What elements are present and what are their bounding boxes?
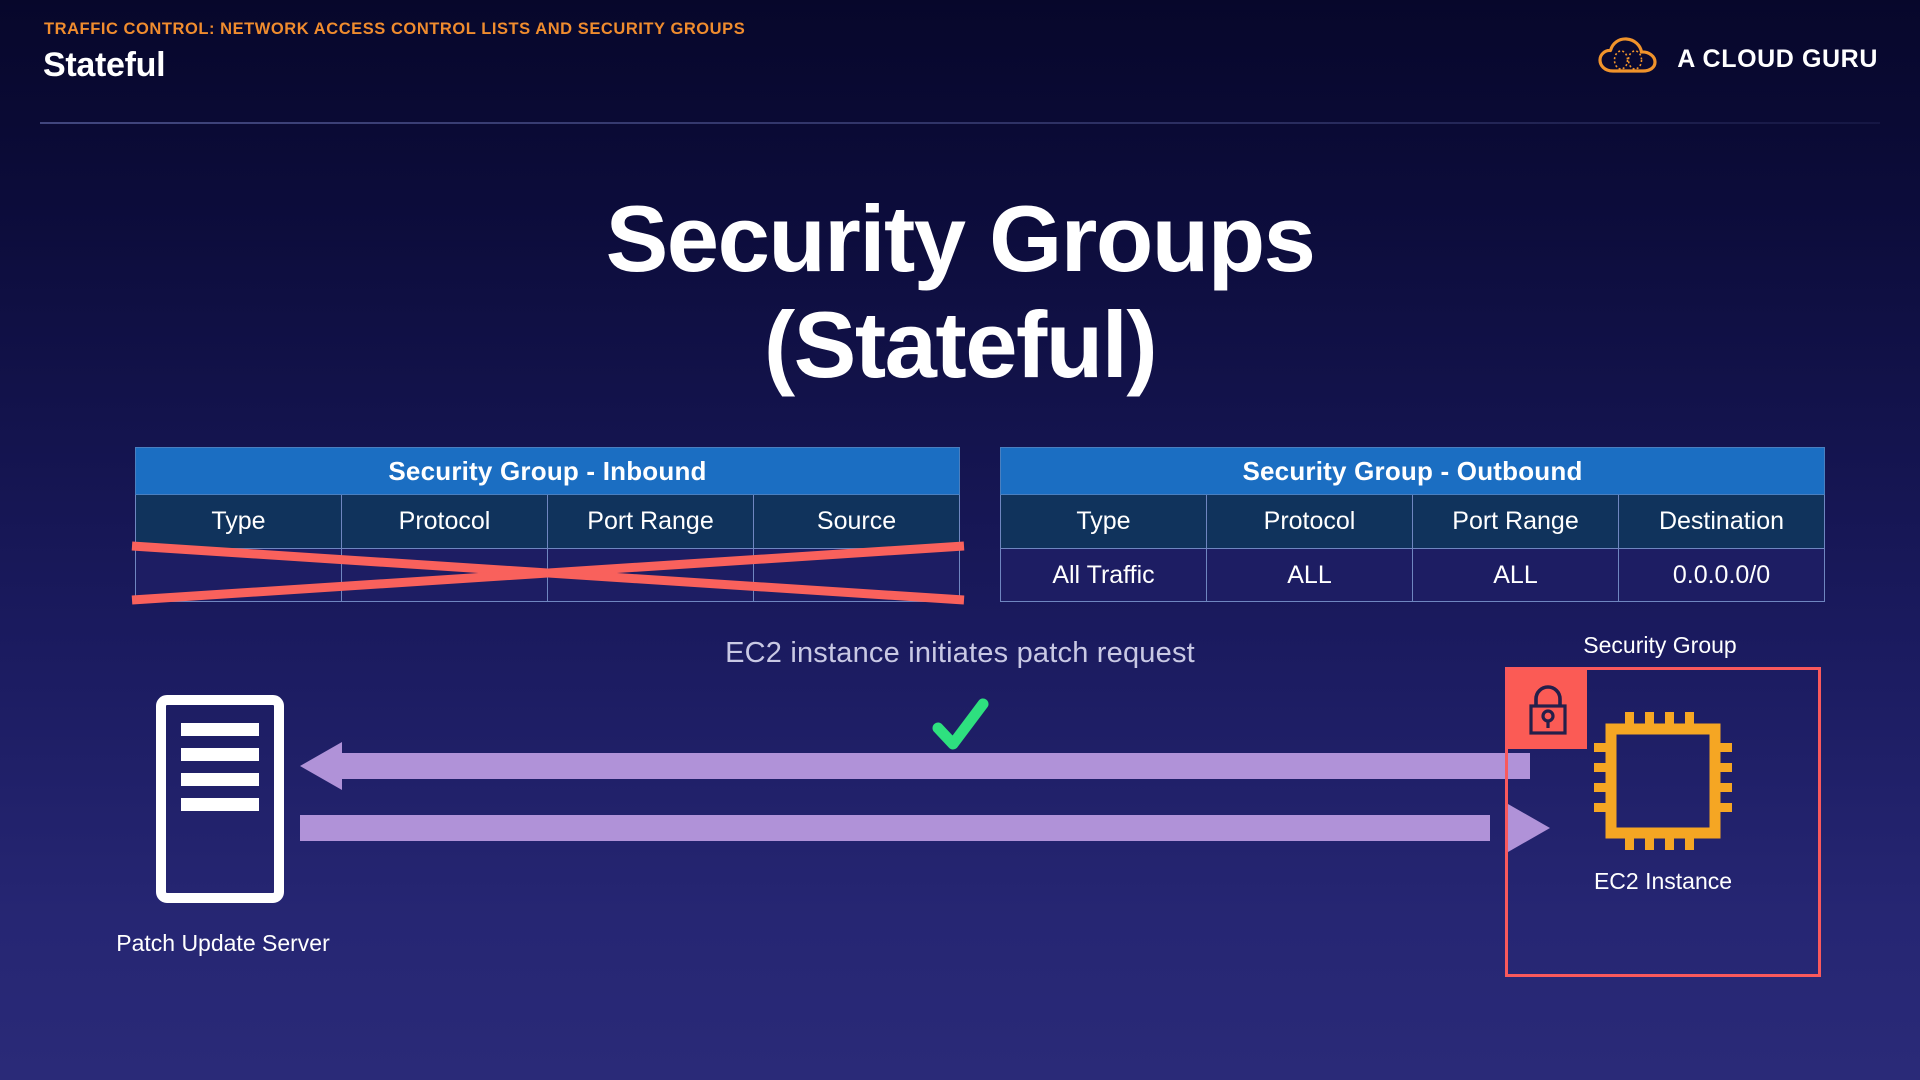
inbound-cell-port-range: [548, 549, 754, 602]
cloud-icon: [1597, 36, 1659, 83]
page-title-line-1: Security Groups: [606, 186, 1315, 291]
outbound-col-destination: Destination: [1619, 495, 1825, 549]
table-header-row: Type Protocol Port Range Source: [136, 495, 960, 549]
inbound-col-type: Type: [136, 495, 342, 549]
inbound-col-port-range: Port Range: [548, 495, 754, 549]
brand-logo: A CLOUD GURU: [1597, 36, 1878, 83]
security-group-box: EC2 Instance: [1505, 667, 1821, 977]
course-eyebrow-text: TRAFFIC CONTROL: NETWORK ACCESS CONTROL …: [44, 20, 745, 39]
outbound-table-title: Security Group - Outbound: [1001, 448, 1825, 495]
inbound-table-title: Security Group - Inbound: [136, 448, 960, 495]
outbound-cell-type: All Traffic: [1001, 549, 1207, 602]
outbound-cell-port-range: ALL: [1413, 549, 1619, 602]
inbound-col-source: Source: [754, 495, 960, 549]
server-icon: [156, 695, 284, 903]
security-group-inbound-table: Security Group - Inbound Type Protocol P…: [135, 447, 960, 602]
table-title-row: Security Group - Outbound: [1001, 448, 1825, 495]
security-group-box-label: Security Group: [1500, 632, 1820, 659]
traffic-arrows: [300, 740, 1550, 860]
table-header-row: Type Protocol Port Range Destination: [1001, 495, 1825, 549]
outbound-col-type: Type: [1001, 495, 1207, 549]
slide-header: TRAFFIC CONTROL: NETWORK ACCESS CONTROL …: [0, 0, 1920, 124]
inbound-cell-type: [136, 549, 342, 602]
header-divider: [40, 122, 1880, 124]
outbound-col-port-range: Port Range: [1413, 495, 1619, 549]
table-row: [136, 549, 960, 602]
table-row: All Traffic ALL ALL 0.0.0.0/0: [1001, 549, 1825, 602]
ec2-instance-label: EC2 Instance: [1508, 868, 1818, 895]
table-title-row: Security Group - Inbound: [136, 448, 960, 495]
security-group-outbound-table: Security Group - Outbound Type Protocol …: [1000, 447, 1825, 602]
brand-name-text: A CLOUD GURU: [1677, 45, 1878, 74]
inbound-cell-protocol: [342, 549, 548, 602]
outbound-cell-destination: 0.0.0.0/0: [1619, 549, 1825, 602]
inbound-cell-source: [754, 549, 960, 602]
page-title: Security Groups (Stateful): [0, 186, 1920, 398]
slide-canvas: TRAFFIC CONTROL: NETWORK ACCESS CONTROL …: [0, 0, 1920, 1080]
lock-icon: [1524, 684, 1572, 736]
cpu-chip-icon: [1592, 710, 1734, 852]
page-title-line-2: (Stateful): [0, 292, 1920, 398]
slide-section-title: Stateful: [43, 46, 165, 85]
outbound-col-protocol: Protocol: [1207, 495, 1413, 549]
server-label: Patch Update Server: [58, 930, 388, 957]
arrow-right-icon: [300, 804, 1550, 852]
inbound-col-protocol: Protocol: [342, 495, 548, 549]
arrow-left-icon: [300, 742, 1530, 790]
lock-badge: [1508, 670, 1587, 749]
outbound-cell-protocol: ALL: [1207, 549, 1413, 602]
